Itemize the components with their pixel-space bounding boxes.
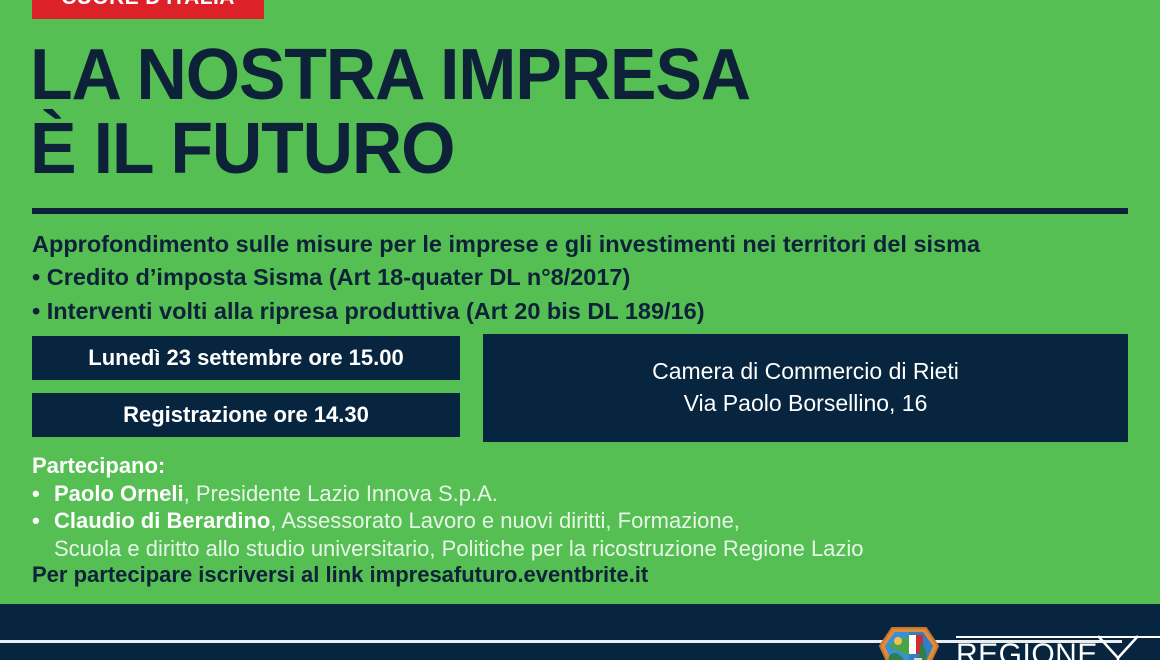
body-line-subtitle: Approfondimento sulle misure per le impr… — [32, 228, 1132, 261]
page-title: LA NOSTRA IMPRESA È IL FUTURO — [30, 42, 1130, 183]
event-poster: CUORE D'ITALIA LA NOSTRA IMPRESA È IL FU… — [0, 0, 1160, 660]
eyebrow-label: CUORE D'ITALIA — [61, 0, 235, 8]
eyebrow-banner: CUORE D'ITALIA — [32, 0, 264, 19]
participants-label: Partecipano: — [32, 452, 1132, 480]
chevron-mark-icon — [1094, 634, 1142, 660]
headline-line-1: LA NOSTRA IMPRESA — [30, 42, 1097, 110]
bullet-icon: • — [32, 480, 54, 508]
list-item: • Paolo Orneli , Presidente Lazio Innova… — [32, 480, 1132, 508]
venue-line-2: Via Paolo Borsellino, 16 — [684, 388, 928, 420]
list-item: • Claudio di Berardino , Assessorato Lav… — [32, 507, 1132, 535]
footer-bar: REGIONE — [0, 604, 1160, 660]
headline-line-2: È IL FUTURO — [30, 116, 1097, 184]
logo-word-regione: REGIONE — [956, 640, 1098, 660]
regione-lazio-logo: REGIONE — [876, 622, 1160, 660]
participant-role: , Presidente Lazio Innova S.p.A. — [184, 480, 498, 508]
participant-name: Paolo Orneli — [54, 480, 184, 508]
signup-prefix: Per partecipare iscriversi al link — [32, 562, 370, 587]
body-line-bullet-1: • Credito d’imposta Sisma (Art 18-quater… — [32, 261, 1132, 294]
body-line-bullet-2: • Interventi volti alla ripresa produtti… — [32, 295, 1132, 328]
signup-line: Per partecipare iscriversi al link impre… — [32, 562, 648, 588]
coat-of-arms-icon — [876, 622, 942, 660]
date-box: Lunedì 23 settembre ore 15.00 — [32, 336, 460, 380]
bullet-icon: • — [32, 507, 54, 535]
registration-box: Registrazione ore 14.30 — [32, 393, 460, 437]
body-copy: Approfondimento sulle misure per le impr… — [32, 228, 1132, 328]
signup-url[interactable]: impresafuturo.eventbrite.it — [370, 562, 649, 587]
participants-section: Partecipano: • Paolo Orneli , Presidente… — [32, 452, 1132, 563]
venue-line-1: Camera di Commercio di Rieti — [652, 356, 959, 388]
venue-box: Camera di Commercio di Rieti Via Paolo B… — [483, 334, 1128, 442]
date-text: Lunedì 23 settembre ore 15.00 — [88, 346, 403, 369]
participant-role-continued: Scuola e diritto allo studio universitar… — [32, 535, 1132, 563]
participant-name: Claudio di Berardino — [54, 507, 270, 535]
regione-wordmark: REGIONE — [956, 622, 1160, 660]
divider-rule — [32, 208, 1128, 214]
registration-text: Registrazione ore 14.30 — [123, 403, 369, 426]
participant-role: , Assessorato Lavoro e nuovi diritti, Fo… — [270, 507, 740, 535]
